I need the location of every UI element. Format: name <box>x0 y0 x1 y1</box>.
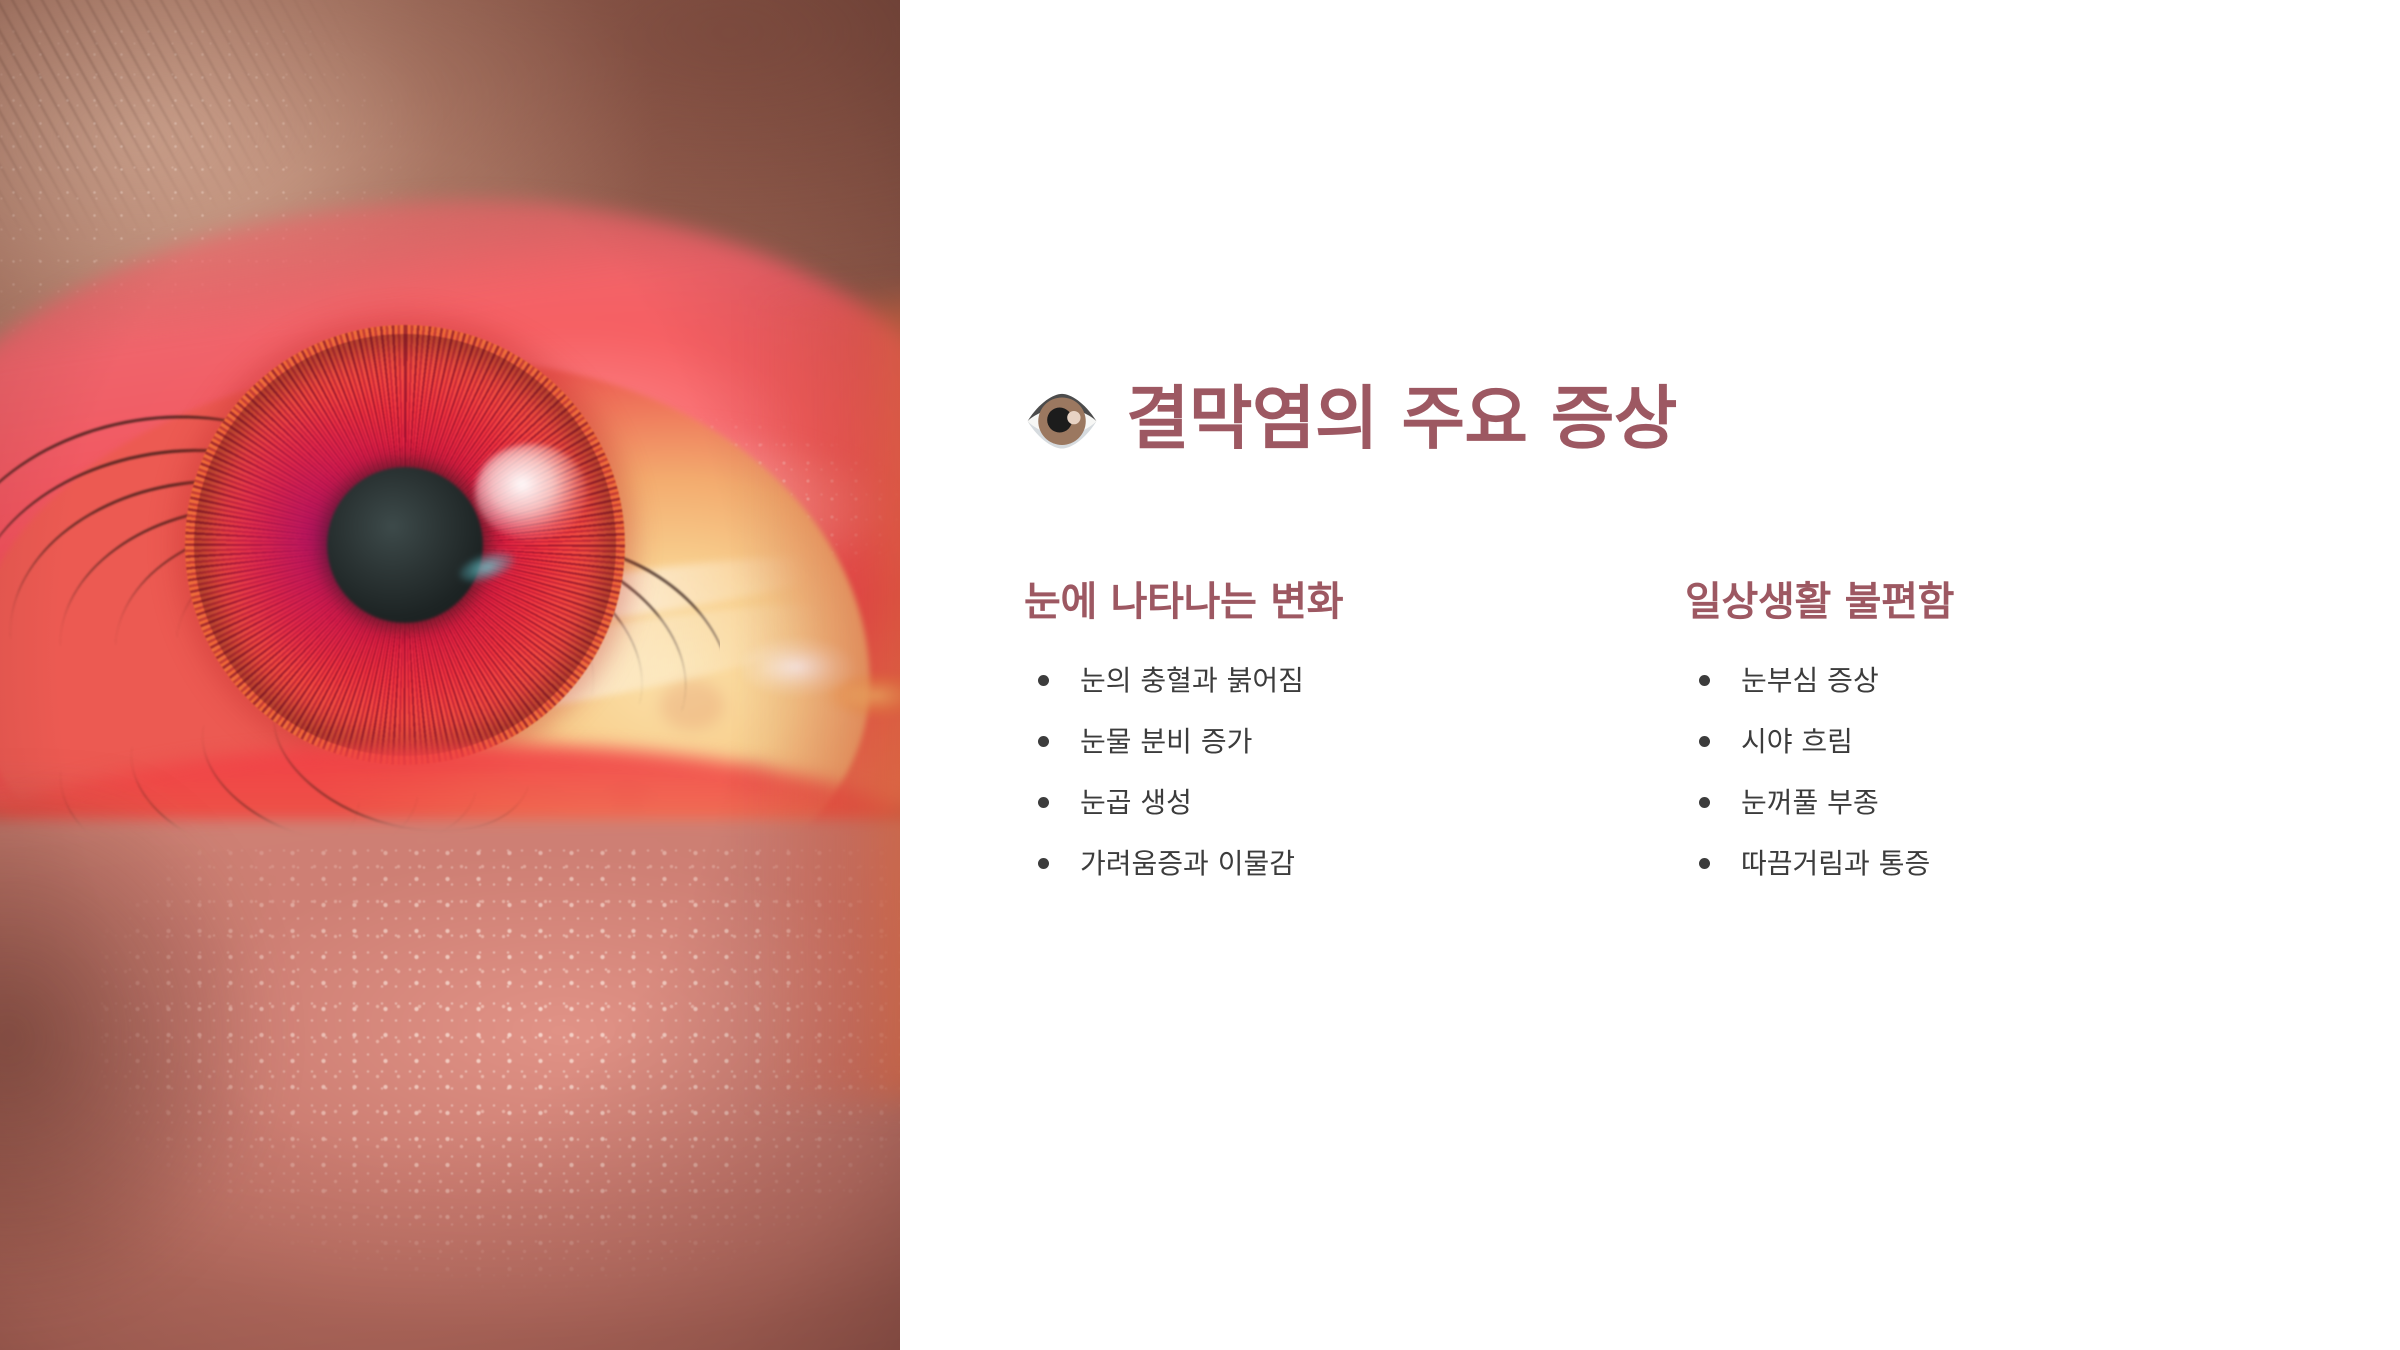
bullet-dot-icon <box>1699 858 1710 869</box>
list-item: 눈꺼풀 부종 <box>1685 784 2324 822</box>
bullet-dot-icon <box>1038 797 1049 808</box>
title-row: 결막염의 주요 증상 <box>1024 381 1677 458</box>
list-item: 눈물 분비 증가 <box>1024 723 1663 761</box>
symptom-list: 눈의 충혈과 붉어짐 눈물 분비 증가 눈곱 생성 가려움증과 이물감 <box>1024 662 1663 883</box>
list-item-label: 눈꺼풀 부종 <box>1741 784 1879 822</box>
list-item-label: 시야 흐림 <box>1741 723 1853 761</box>
list-item: 눈곱 생성 <box>1024 784 1663 822</box>
bullet-dot-icon <box>1699 675 1710 686</box>
bullet-dot-icon <box>1038 858 1049 869</box>
symptom-columns: 눈에 나타나는 변화 눈의 충혈과 붉어짐 눈물 분비 증가 눈곱 생성 <box>1024 578 2324 883</box>
column-eye-changes: 눈에 나타나는 변화 눈의 충혈과 붉어짐 눈물 분비 증가 눈곱 생성 <box>1024 578 1663 883</box>
list-item-label: 눈부심 증상 <box>1741 662 1879 700</box>
column-daily-discomfort: 일상생활 불편함 눈부심 증상 시야 흐림 눈꺼풀 부종 <box>1663 578 2324 883</box>
column-heading: 일상생활 불편함 <box>1685 578 2324 626</box>
list-item-label: 눈의 충혈과 붉어짐 <box>1080 662 1304 700</box>
list-item: 눈의 충혈과 붉어짐 <box>1024 662 1663 700</box>
bullet-dot-icon <box>1038 736 1049 747</box>
column-heading: 눈에 나타나는 변화 <box>1024 578 1663 626</box>
eye-icon <box>1024 382 1100 458</box>
list-item-label: 눈곱 생성 <box>1080 784 1192 822</box>
list-item: 가려움증과 이물감 <box>1024 845 1663 883</box>
list-item-label: 가려움증과 이물감 <box>1080 845 1295 883</box>
list-item-label: 따끔거림과 통증 <box>1741 845 1930 883</box>
photo-vignette <box>0 0 900 1350</box>
list-item: 따끔거림과 통증 <box>1685 845 2324 883</box>
bullet-dot-icon <box>1699 797 1710 808</box>
inflamed-eye-photo <box>0 0 900 1350</box>
bullet-dot-icon <box>1038 675 1049 686</box>
bullet-dot-icon <box>1699 736 1710 747</box>
content-panel: 결막염의 주요 증상 눈에 나타나는 변화 눈의 충혈과 붉어짐 눈물 분비 증… <box>900 0 2400 1350</box>
list-item: 시야 흐림 <box>1685 723 2324 761</box>
slide-root: 결막염의 주요 증상 눈에 나타나는 변화 눈의 충혈과 붉어짐 눈물 분비 증… <box>0 0 2400 1350</box>
symptom-list: 눈부심 증상 시야 흐림 눈꺼풀 부종 따끔거림과 통증 <box>1685 662 2324 883</box>
list-item-label: 눈물 분비 증가 <box>1080 723 1252 761</box>
list-item: 눈부심 증상 <box>1685 662 2324 700</box>
page-title: 결막염의 주요 증상 <box>1126 381 1677 458</box>
